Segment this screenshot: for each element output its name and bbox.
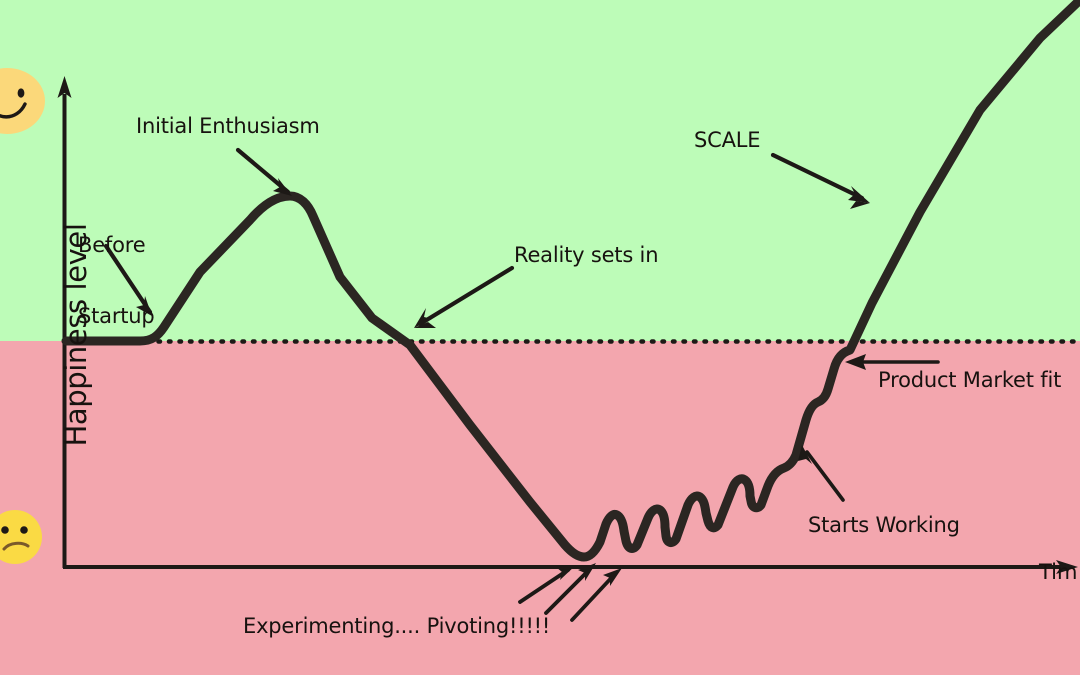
happiness-curve	[66, 0, 1080, 557]
arrow-initial-enthusiasm	[238, 150, 292, 196]
label-reality-sets-in: Reality sets in	[514, 244, 658, 268]
label-experimenting-pivoting: Experimenting.... Pivoting!!!!!	[243, 615, 550, 639]
chart-vector-layer	[0, 0, 1080, 675]
x-axis-title: Tim	[1039, 560, 1077, 584]
label-product-market-fit: Product Market fit	[878, 369, 1061, 393]
label-initial-enthusiasm: Initial Enthusiasm	[136, 115, 320, 139]
label-scale: SCALE	[694, 129, 760, 153]
label-before-startup: Before Startup	[78, 187, 155, 375]
arrow-experimenting-pivoting-3	[572, 568, 622, 620]
startup-journey-chart: Happiness level Tim Before Startup Initi…	[0, 0, 1080, 675]
arrow-starts-working	[798, 445, 843, 500]
arrow-experimenting-pivoting-1	[520, 565, 576, 602]
arrow-experimenting-pivoting-2	[546, 563, 596, 613]
arrow-reality-sets-in	[414, 268, 512, 328]
label-starts-working: Starts Working	[808, 514, 960, 538]
arrow-scale	[773, 155, 870, 209]
smiley-face-icon	[0, 68, 45, 134]
frowning-face-icon	[0, 510, 42, 564]
label-before-startup-line2: Startup	[78, 305, 155, 329]
label-before-startup-line1: Before	[78, 234, 155, 258]
